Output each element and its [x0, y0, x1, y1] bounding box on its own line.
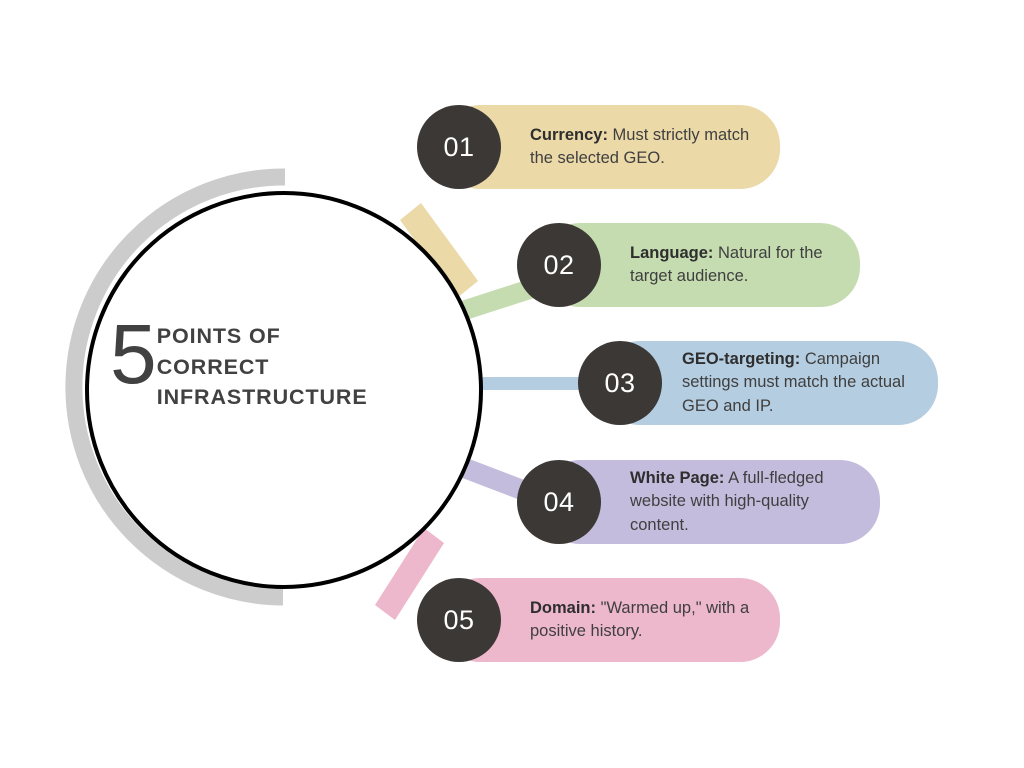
hub-label: 5 POINTS OF CORRECT INFRASTRUCTURE: [110, 316, 450, 413]
callout-text-01: Currency: Must strictly match the select…: [530, 124, 758, 171]
step-badge-05[interactable]: 05: [417, 578, 501, 662]
step-badge-02[interactable]: 02: [517, 223, 601, 307]
callout-text-05: Domain: "Warmed up," with a positive his…: [530, 597, 760, 644]
step-badge-04[interactable]: 04: [517, 460, 601, 544]
callout-text-02: Language: Natural for the target audienc…: [630, 242, 840, 289]
callout-term-01: Currency:: [530, 126, 608, 144]
hub-title: POINTS OF CORRECT INFRASTRUCTURE: [157, 316, 368, 413]
hub-title-line-1: POINTS OF: [157, 321, 368, 352]
callout-term-05: Domain:: [530, 599, 596, 617]
step-badge-label-04: 04: [543, 487, 574, 518]
callout-text-03: GEO-targeting: Campaign settings must ma…: [682, 348, 920, 418]
step-badge-label-02: 02: [543, 250, 574, 281]
step-badge-03[interactable]: 03: [578, 341, 662, 425]
step-badge-label-03: 03: [604, 368, 635, 399]
callout-term-03: GEO-targeting:: [682, 350, 800, 368]
step-badge-01[interactable]: 01: [417, 105, 501, 189]
callout-term-02: Language:: [630, 244, 713, 262]
step-badge-label-01: 01: [443, 132, 474, 163]
hub-title-line-2: CORRECT: [157, 352, 368, 383]
hub-title-line-3: INFRASTRUCTURE: [157, 382, 368, 413]
hub-number: 5: [110, 318, 155, 390]
infographic-canvas: 5 POINTS OF CORRECT INFRASTRUCTURE Curre…: [0, 0, 1024, 768]
step-badge-label-05: 05: [443, 605, 474, 636]
callout-text-04: White Page: A full-fledged website with …: [630, 467, 862, 537]
callout-term-04: White Page:: [630, 469, 724, 487]
